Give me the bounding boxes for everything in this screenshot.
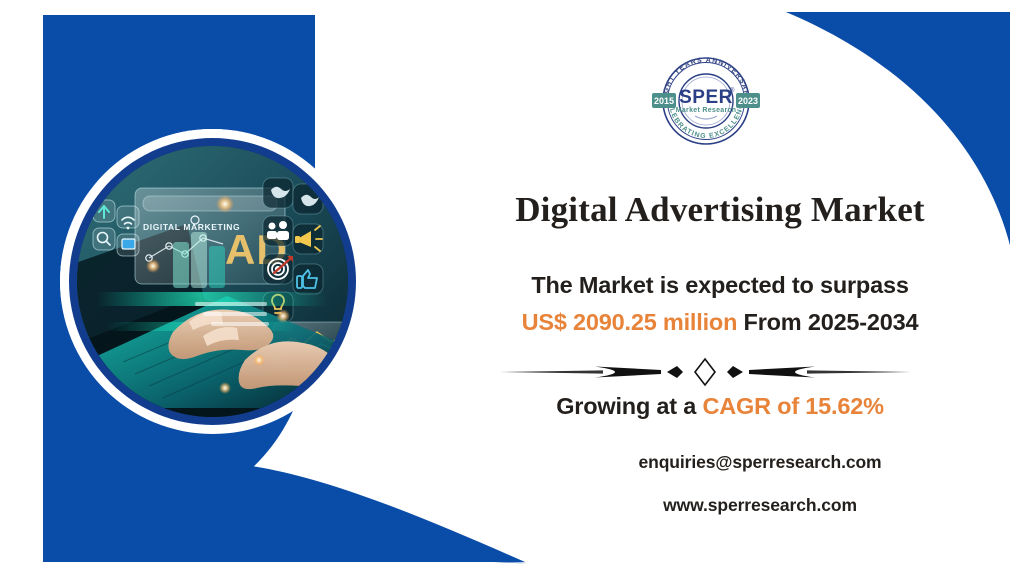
subtitle-line-1: The Market is expected to surpass — [440, 272, 1000, 299]
page-title: Digital Advertising Market — [440, 192, 1000, 227]
cagr-prefix: Growing at a — [556, 393, 702, 419]
marketing-banner: DIGITAL MARKETING AD — [0, 0, 1024, 577]
forecast-period: From 2025-2034 — [737, 309, 918, 335]
cagr-value: CAGR of 15.62% — [702, 393, 883, 419]
contact-email[interactable]: enquiries@sperresearch.com — [520, 452, 1000, 473]
cagr-line: Growing at a CAGR of 15.62% — [440, 393, 1000, 420]
market-value: US$ 2090.25 million — [522, 309, 738, 335]
hero-photo: DIGITAL MARKETING AD — [60, 129, 365, 434]
subtitle-line-2: US$ 2090.25 million From 2025-2034 — [440, 309, 1000, 336]
ornament-divider — [485, 357, 925, 387]
contact-website[interactable]: www.sperresearch.com — [520, 495, 1000, 516]
content-column: Digital Advertising Market The Market is… — [440, 0, 1000, 577]
photo-image: DIGITAL MARKETING AD — [77, 146, 348, 417]
